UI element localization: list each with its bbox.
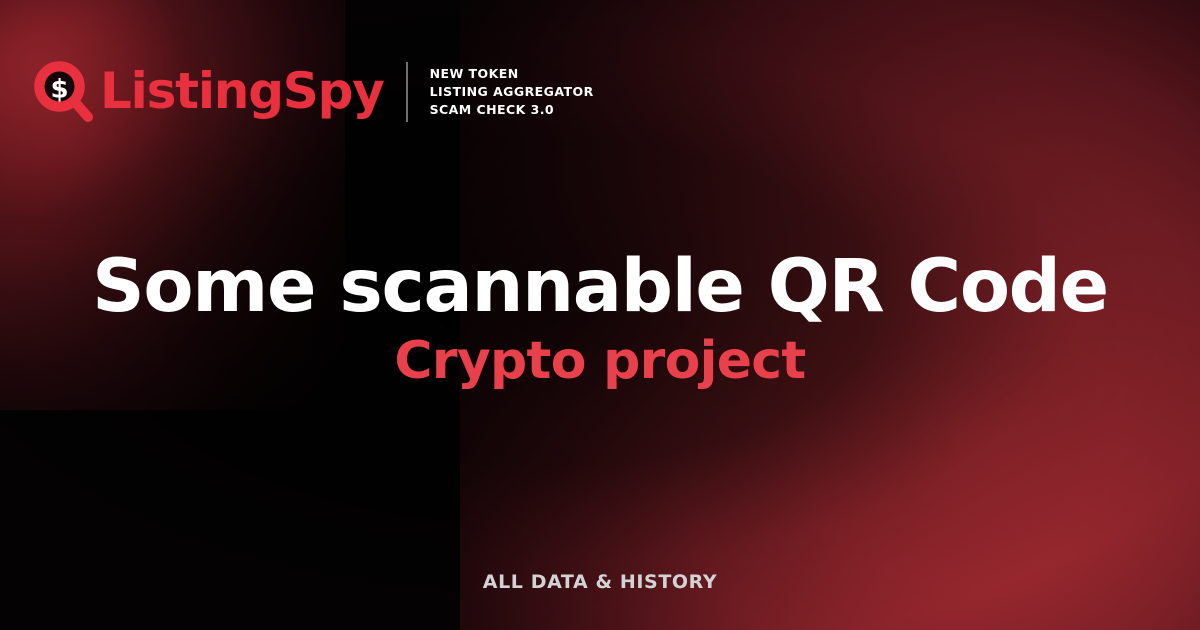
svg-text:$: $ (50, 75, 68, 105)
promo-banner: $ ListingSpy NEW TOKEN LISTING AGGREGATO… (0, 0, 1200, 630)
hero-text-block: Some scannable QR Code Crypto project (0, 248, 1200, 391)
brand-wordmark: ListingSpy (100, 66, 384, 116)
tagline-line-3: SCAM CHECK 3.0 (430, 101, 594, 119)
tagline-line-1: NEW TOKEN (430, 65, 594, 83)
footer-note: ALL DATA & HISTORY (0, 571, 1200, 593)
brand-logo[interactable]: $ ListingSpy NEW TOKEN LISTING AGGREGATO… (34, 55, 594, 129)
magnifier-dollar-icon: $ (34, 61, 96, 123)
page-title: Some scannable QR Code (0, 248, 1200, 325)
brand-tagline: NEW TOKEN LISTING AGGREGATOR SCAM CHECK … (430, 65, 594, 118)
tagline-line-2: LISTING AGGREGATOR (430, 83, 594, 101)
logo-divider (406, 62, 408, 122)
page-subtitle: Crypto project (0, 333, 1200, 390)
